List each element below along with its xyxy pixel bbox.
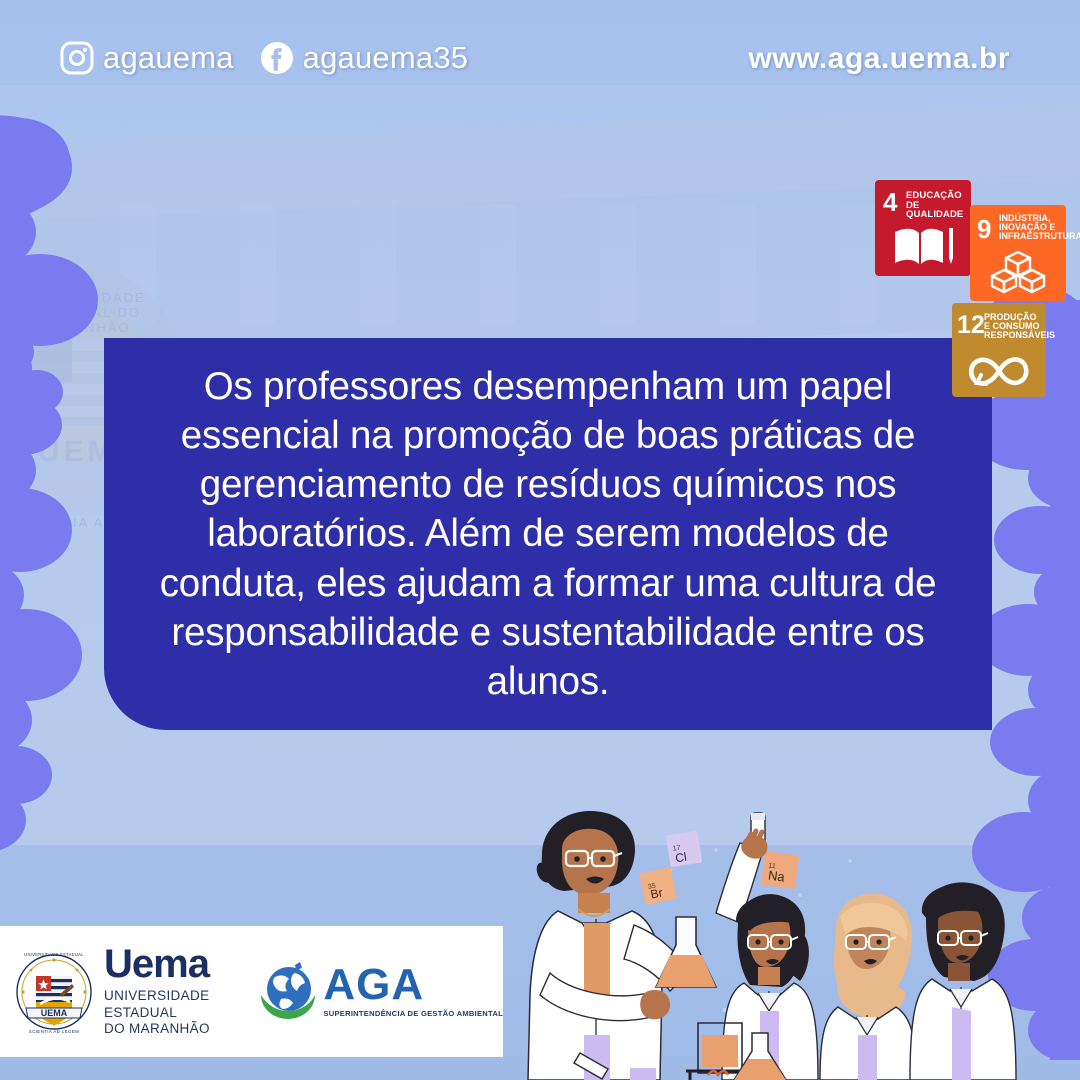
svg-text:Na: Na [767, 867, 786, 884]
footer-logo-bar: UEMA UNIVERSIDADE ESTADUAL SCIENTIA AD L… [0, 926, 503, 1057]
uema-subtitle: UNIVERSIDADE ESTADUAL DO MARANHÃO [104, 988, 241, 1037]
uema-seal-text: UEMA [41, 1008, 68, 1018]
sdg-badge-9: 9 INDÚSTRIA, INOVAÇÃO E INFRAESTRUTURAS [970, 205, 1066, 301]
aga-subtitle: SUPERINTENDÊNCIA DE GESTÃO AMBIENTAL [323, 1009, 503, 1018]
cubes-icon [970, 250, 1066, 294]
facebook-icon [260, 41, 294, 75]
uema-seal-logo: UEMA UNIVERSIDADE ESTADUAL SCIENTIA AD L… [14, 948, 94, 1036]
instagram-handle: agauema [103, 40, 234, 76]
sdg-badge-12: 12 PRODUÇÃO E CONSUMO RESPONSÁVEIS [952, 303, 1046, 397]
book-pencil-icon [875, 223, 971, 269]
svg-text:UNIVERSIDADE ESTADUAL: UNIVERSIDADE ESTADUAL [24, 952, 84, 957]
element-card-cl: 17 Cl [666, 831, 703, 868]
sdg-12-number: 12 [957, 313, 985, 338]
aga-logo-block: AGA SUPERINTENDÊNCIA DE GESTÃO AMBIENTAL [257, 961, 503, 1023]
sdg-4-number: 4 [883, 189, 897, 215]
message-text: Os professores desempenham um papel esse… [130, 362, 966, 707]
header-bar: agauema agauema35 www.aga.uema.br [0, 0, 1080, 100]
uema-subtitle-line1: UNIVERSIDADE ESTADUAL [104, 988, 209, 1019]
social-links-group: agauema agauema35 [60, 40, 468, 76]
uema-subtitle-line2: DO MARANHÃO [104, 1021, 210, 1036]
sdg-12-title: PRODUÇÃO E CONSUMO RESPONSÁVEIS [984, 313, 1044, 341]
element-card-na: 11 Na [761, 851, 799, 889]
svg-text:Cl: Cl [674, 850, 687, 866]
uema-wordmark-block: Uema UNIVERSIDADE ESTADUAL DO MARANHÃO [104, 945, 241, 1037]
instagram-link[interactable]: agauema [60, 40, 234, 76]
illustration-student-2-hijab [820, 893, 916, 1080]
uema-wordmark: Uema [104, 945, 241, 983]
aga-globe-icon [257, 961, 319, 1023]
sdg-9-number: 9 [977, 216, 991, 242]
sdg-badge-4: 4 EDUCAÇÃO DE QUALIDADE [875, 180, 971, 276]
svg-text:SCIENTIA AD LEGEM: SCIENTIA AD LEGEM [29, 1029, 79, 1034]
sdg-4-title: EDUCAÇÃO DE QUALIDADE [906, 191, 968, 220]
infinity-loop-icon [952, 352, 1046, 390]
chemistry-lab-illustration: 35 Br 17 Cl 11 Na [520, 795, 1080, 1080]
instagram-icon [60, 41, 94, 75]
website-url[interactable]: www.aga.uema.br [749, 42, 1010, 76]
message-card: Os professores desempenham um papel esse… [104, 338, 992, 730]
sdg-9-title: INDÚSTRIA, INOVAÇÃO E INFRAESTRUTURAS [999, 214, 1063, 242]
illustration-student-3 [910, 882, 1016, 1080]
element-card-br: 35 Br [639, 867, 677, 905]
aga-wordmark: AGA [323, 965, 503, 1005]
facebook-handle: agauema35 [303, 40, 469, 76]
poster-canvas: UNIVERSIDADE ESTADUAL UNIVERSIDADE ESTAD… [0, 0, 1080, 1080]
facebook-link[interactable]: agauema35 [260, 40, 469, 76]
